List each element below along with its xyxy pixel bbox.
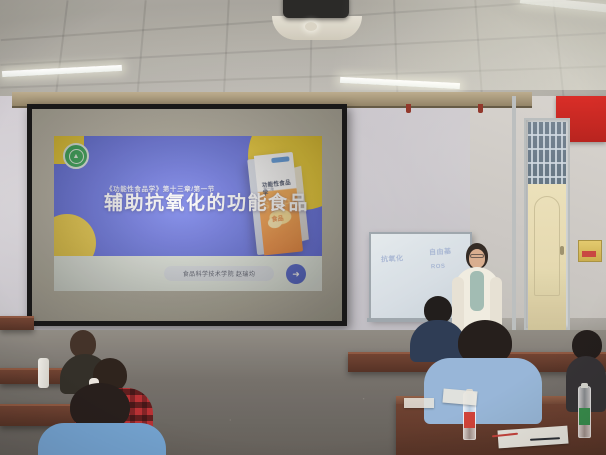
next-slide-arrow-icon: ➜ [286, 264, 306, 284]
desk-back-left [0, 316, 34, 330]
slide-footer-text: 食品科学技术学院 赵瑞均 [183, 269, 255, 278]
projector-lens [305, 22, 317, 31]
attendee-lightblue-shirt [424, 320, 542, 420]
slide-footer-pill: 食品科学技术学院 赵瑞均 [164, 266, 274, 281]
handout-paper-mid[interactable] [442, 389, 477, 406]
wall-conduit-pipe [512, 96, 516, 332]
desk-thermos[interactable] [38, 358, 49, 388]
door-grille-window [528, 122, 566, 184]
whiteboard-note-left: 抗氧化 [381, 253, 404, 264]
presentation-slide: ▲ 功能性食品学 第二版 SHIPIN 食品 [54, 136, 322, 291]
slide-title: 辅助抗氧化的功能食品 [104, 194, 309, 213]
door-decor-panel [534, 196, 560, 296]
book-badge-cn: 食品 [271, 213, 284, 223]
whiteboard-note-bottom: ROS [431, 264, 446, 271]
projector-mount-plate [272, 16, 362, 40]
slide-kicker: 《功能性食品学》第十三章/第一节 [106, 183, 215, 193]
student-front-shirt [38, 423, 166, 455]
slide-footer-band: 食品科学技术学院 赵瑞均 ➜ [54, 256, 322, 291]
logo-inner-glyph: ▲ [69, 149, 84, 164]
wall-electrical-box[interactable] [578, 240, 602, 262]
presenter-inner-top [470, 271, 484, 311]
door-handle[interactable] [560, 246, 564, 255]
university-logo-icon: ▲ [63, 143, 89, 169]
classroom-lecture-photo: ▲ 功能性食品学 第二版 SHIPIN 食品 [0, 0, 606, 455]
publisher-logo-icon [271, 156, 289, 163]
presenter-glasses-icon [470, 254, 484, 258]
student-front-blue [38, 383, 166, 455]
handout-paper-left[interactable] [404, 398, 434, 408]
presenter-face [469, 249, 485, 268]
water-bottle-right[interactable] [578, 386, 591, 438]
attendee-lightblue-body [424, 358, 542, 424]
screen-surface: ▲ 功能性食品学 第二版 SHIPIN 食品 [32, 109, 342, 321]
projection-screen: ▲ 功能性食品学 第二版 SHIPIN 食品 [27, 104, 347, 326]
ceiling-projector [283, 0, 349, 18]
